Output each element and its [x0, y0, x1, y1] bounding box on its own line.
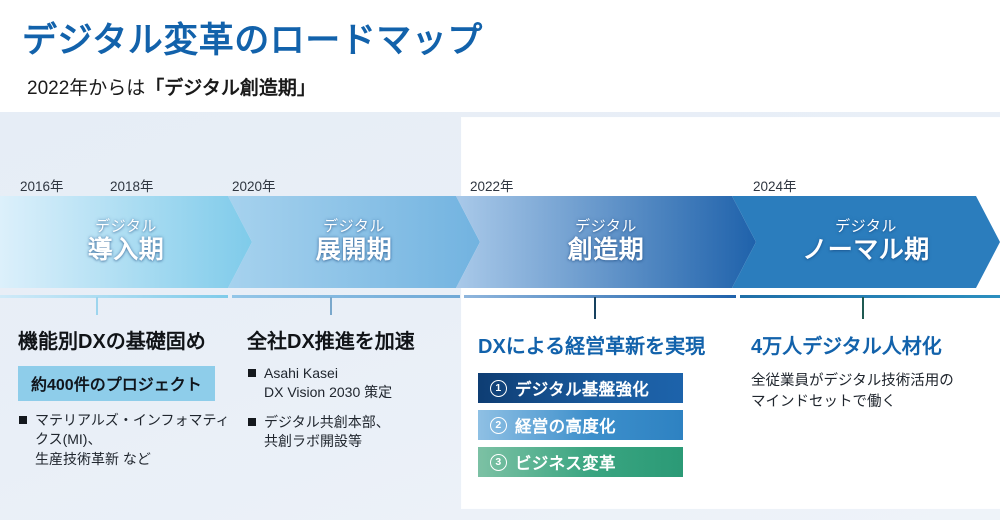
phase-chevron-text-1: デジタル導入期 — [88, 219, 165, 265]
phase-sublabel-2: デジタル — [316, 219, 393, 235]
column-title-2: 全社DX推進を加速 — [247, 325, 452, 354]
phase-chevron-text-2: デジタル展開期 — [316, 219, 393, 265]
year-label-2024: 2024年 — [753, 175, 797, 195]
initiative-bar-1[interactable]: 1デジタル基盤強化 — [478, 373, 683, 403]
initiative-label-1: デジタル基盤強化 — [515, 376, 649, 400]
timeline-rule — [0, 295, 1000, 298]
list-item: マテリアルズ・インフォマティクス(MI)、生産技術革新 など — [18, 411, 233, 469]
initiative-bar-list: 1デジタル基盤強化2経営の高度化3ビジネス変革 — [478, 373, 718, 477]
column-body-text-4: 全従業員がデジタル技術活用のマインドセットで働く — [751, 371, 991, 414]
phase-chevron-3[interactable]: デジタル創造期 — [456, 196, 756, 288]
column-title-1: 機能別DXの基礎固め — [18, 325, 233, 354]
page-title: デジタル変革のロードマップ — [22, 12, 483, 63]
column-bullet-list-1: マテリアルズ・インフォマティクス(MI)、生産技術革新 など — [18, 411, 233, 469]
detail-column-1: 機能別DXの基礎固め約400件のプロジェクトマテリアルズ・インフォマティクス(M… — [18, 325, 233, 469]
detail-column-3: DXによる経営革新を実現1デジタル基盤強化2経営の高度化3ビジネス変革 — [478, 330, 718, 484]
subtitle-prefix: 2022年からは — [27, 78, 145, 99]
initiative-number-icon-1: 1 — [490, 380, 507, 397]
phase-sublabel-4: デジタル — [802, 219, 930, 235]
column-title-3: DXによる経営革新を実現 — [478, 330, 718, 359]
header-band: デジタル変革のロードマップ 2022年からは「デジタル創造期」 — [0, 0, 1000, 110]
phase-label-4: ノーマル期 — [802, 236, 930, 265]
phase-label-1: 導入期 — [88, 236, 165, 265]
phase-chevron-text-4: デジタルノーマル期 — [802, 219, 930, 265]
phase-sublabel-1: デジタル — [88, 219, 165, 235]
list-item: Asahi KaseiDX Vision 2030 策定 — [247, 364, 452, 403]
timeline-rule-segment-2 — [232, 295, 460, 298]
year-label-2020: 2020年 — [232, 175, 276, 195]
timeline-rule-segment-3 — [464, 295, 736, 298]
phase-chevron-text-3: デジタル創造期 — [568, 219, 645, 265]
year-label-2018: 2018年 — [110, 175, 154, 195]
phase-label-2: 展開期 — [316, 236, 393, 265]
initiative-number-icon-3: 3 — [490, 454, 507, 471]
column-bullet-list-2: Asahi KaseiDX Vision 2030 策定デジタル共創本部、共創ラ… — [247, 364, 452, 451]
timeline-tick-2 — [330, 297, 332, 315]
initiative-bar-2[interactable]: 2経営の高度化 — [478, 410, 683, 440]
subtitle-quoted: 「デジタル創造期」 — [145, 78, 316, 99]
page-subtitle: 2022年からは「デジタル創造期」 — [27, 73, 316, 100]
phase-chevron-2[interactable]: デジタル展開期 — [228, 196, 480, 288]
column-title-4: 4万人デジタル人材化 — [751, 330, 991, 359]
phase-chevron-1[interactable]: デジタル導入期 — [0, 196, 252, 288]
year-label-2022: 2022年 — [470, 175, 514, 195]
roadmap-slide: デジタル変革のロードマップ 2022年からは「デジタル創造期」 2016年201… — [0, 0, 1000, 520]
phase-label-3: 創造期 — [568, 236, 645, 265]
project-count-badge: 約400件のプロジェクト — [18, 366, 215, 401]
timeline-rule-segment-1 — [0, 295, 228, 298]
phase-chevron-row: デジタル導入期デジタル展開期デジタル創造期デジタルノーマル期 — [0, 196, 1000, 288]
phase-sublabel-3: デジタル — [568, 219, 645, 235]
initiative-label-3: ビジネス変革 — [515, 450, 616, 474]
detail-column-2: 全社DX推進を加速Asahi KaseiDX Vision 2030 策定デジタ… — [247, 325, 452, 451]
list-item: デジタル共創本部、共創ラボ開設等 — [247, 413, 452, 452]
timeline-tick-4 — [862, 297, 864, 319]
detail-column-4: 4万人デジタル人材化全従業員がデジタル技術活用のマインドセットで働く — [751, 330, 991, 414]
initiative-number-icon-2: 2 — [490, 417, 507, 434]
year-label-2016: 2016年 — [20, 175, 64, 195]
initiative-label-2: 経営の高度化 — [515, 413, 616, 437]
initiative-bar-3[interactable]: 3ビジネス変革 — [478, 447, 683, 477]
timeline-rule-segment-4 — [740, 295, 1000, 298]
timeline-tick-3 — [594, 297, 596, 319]
timeline-tick-1 — [96, 297, 98, 315]
phase-chevron-4[interactable]: デジタルノーマル期 — [732, 196, 1000, 288]
